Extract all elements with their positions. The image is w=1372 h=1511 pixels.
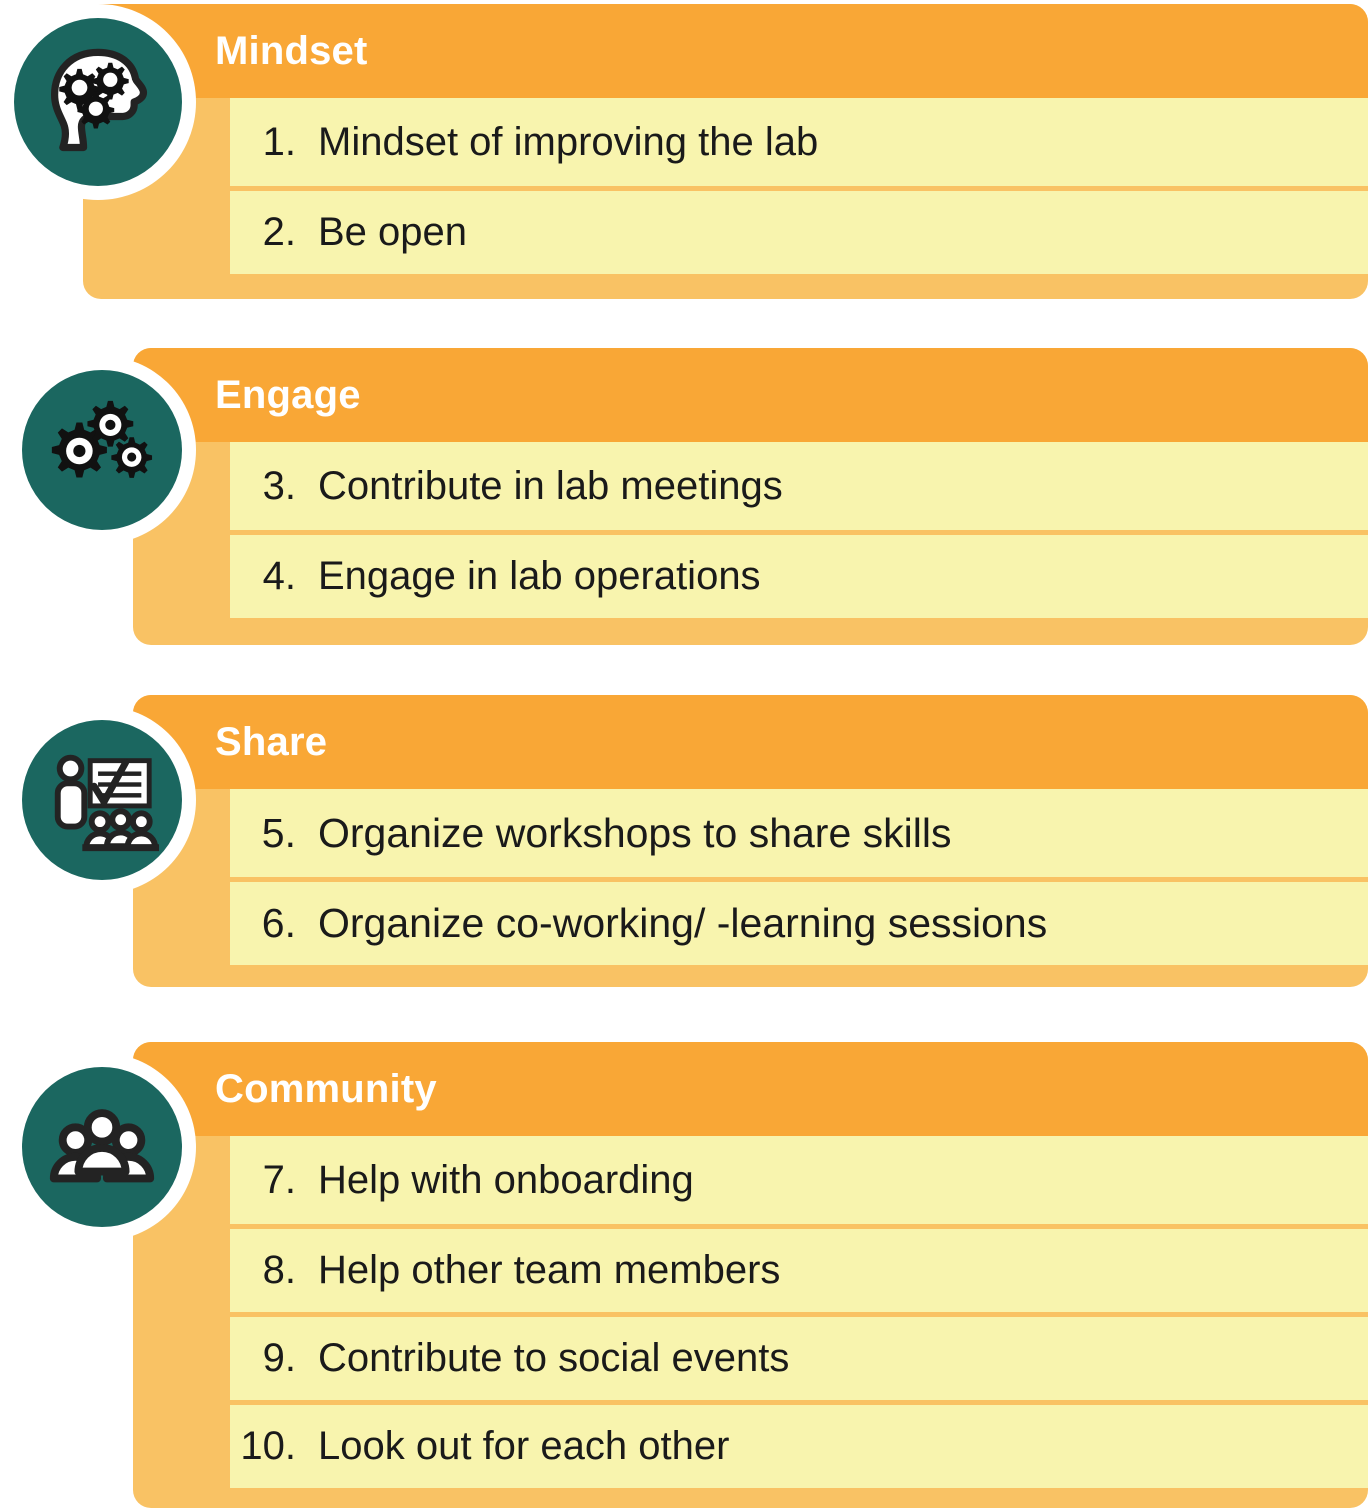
list-item-label: Help other team members <box>318 1248 780 1293</box>
list-item[interactable]: 6. Organize co-working/ -learning sessio… <box>230 877 1368 965</box>
list-item-number: 7. <box>230 1158 318 1203</box>
section-title-community: Community <box>215 1069 437 1109</box>
section-items-community: 7. Help with onboarding 8. Help other te… <box>230 1136 1368 1488</box>
three-gears-icon <box>22 370 182 530</box>
section-title-mindset: Mindset <box>215 31 368 71</box>
section-icon-badge-mindset <box>0 4 196 200</box>
list-item-number: 3. <box>230 464 318 509</box>
list-item-number: 5. <box>230 810 318 857</box>
section-icon-badge-community <box>8 1053 196 1241</box>
section-card-mindset: Mindset 1. Mindset of improving the lab … <box>83 4 1368 299</box>
list-item-label: Look out for each other <box>318 1424 729 1469</box>
list-item-number: 8. <box>230 1248 318 1293</box>
list-item[interactable]: 9. Contribute to social events <box>230 1312 1368 1400</box>
section-items-engage: 3. Contribute in lab meetings 4. Engage … <box>230 442 1368 618</box>
list-item-label: Organize co-working/ -learning sessions <box>318 900 1047 947</box>
infographic-board: Mindset 1. Mindset of improving the lab … <box>0 0 1372 1511</box>
list-item-number: 1. <box>230 120 318 165</box>
list-item-number: 9. <box>230 1336 318 1381</box>
list-item[interactable]: 4. Engage in lab operations <box>230 530 1368 618</box>
list-item[interactable]: 8. Help other team members <box>230 1224 1368 1312</box>
head-with-gears-icon <box>14 18 182 186</box>
list-item-label: Contribute to social events <box>318 1336 789 1381</box>
list-item-number: 10. <box>230 1424 318 1469</box>
section-icon-badge-engage <box>8 356 196 544</box>
list-item-number: 6. <box>230 900 318 947</box>
list-item-label: Help with onboarding <box>318 1158 694 1203</box>
list-item[interactable]: 2. Be open <box>230 186 1368 274</box>
section-card-community: Community 7. Help with onboarding 8. Hel… <box>133 1042 1368 1508</box>
section-card-engage: Engage 3. Contribute in lab meetings 4. … <box>133 348 1368 645</box>
list-item-label: Organize workshops to share skills <box>318 810 951 857</box>
section-items-mindset: 1. Mindset of improving the lab 2. Be op… <box>230 98 1368 274</box>
list-item[interactable]: 7. Help with onboarding <box>230 1136 1368 1224</box>
section-items-share: 5. Organize workshops to share skills 6.… <box>230 789 1368 965</box>
section-title-share: Share <box>215 722 327 762</box>
list-item-number: 4. <box>230 554 318 599</box>
list-item[interactable]: 3. Contribute in lab meetings <box>230 442 1368 530</box>
list-item-label: Be open <box>318 210 467 255</box>
list-item[interactable]: 5. Organize workshops to share skills <box>230 789 1368 877</box>
list-item-number: 2. <box>230 210 318 255</box>
list-item-label: Mindset of improving the lab <box>318 120 818 165</box>
section-title-engage: Engage <box>215 375 361 415</box>
list-item-label: Engage in lab operations <box>318 554 761 599</box>
section-card-share: Share 5. Organize workshops to share ski… <box>133 695 1368 987</box>
three-people-icon <box>22 1067 182 1227</box>
presenter-with-audience-icon <box>22 720 182 880</box>
list-item[interactable]: 1. Mindset of improving the lab <box>230 98 1368 186</box>
list-item[interactable]: 10. Look out for each other <box>230 1400 1368 1488</box>
section-icon-badge-share <box>8 706 196 894</box>
list-item-label: Contribute in lab meetings <box>318 464 783 509</box>
